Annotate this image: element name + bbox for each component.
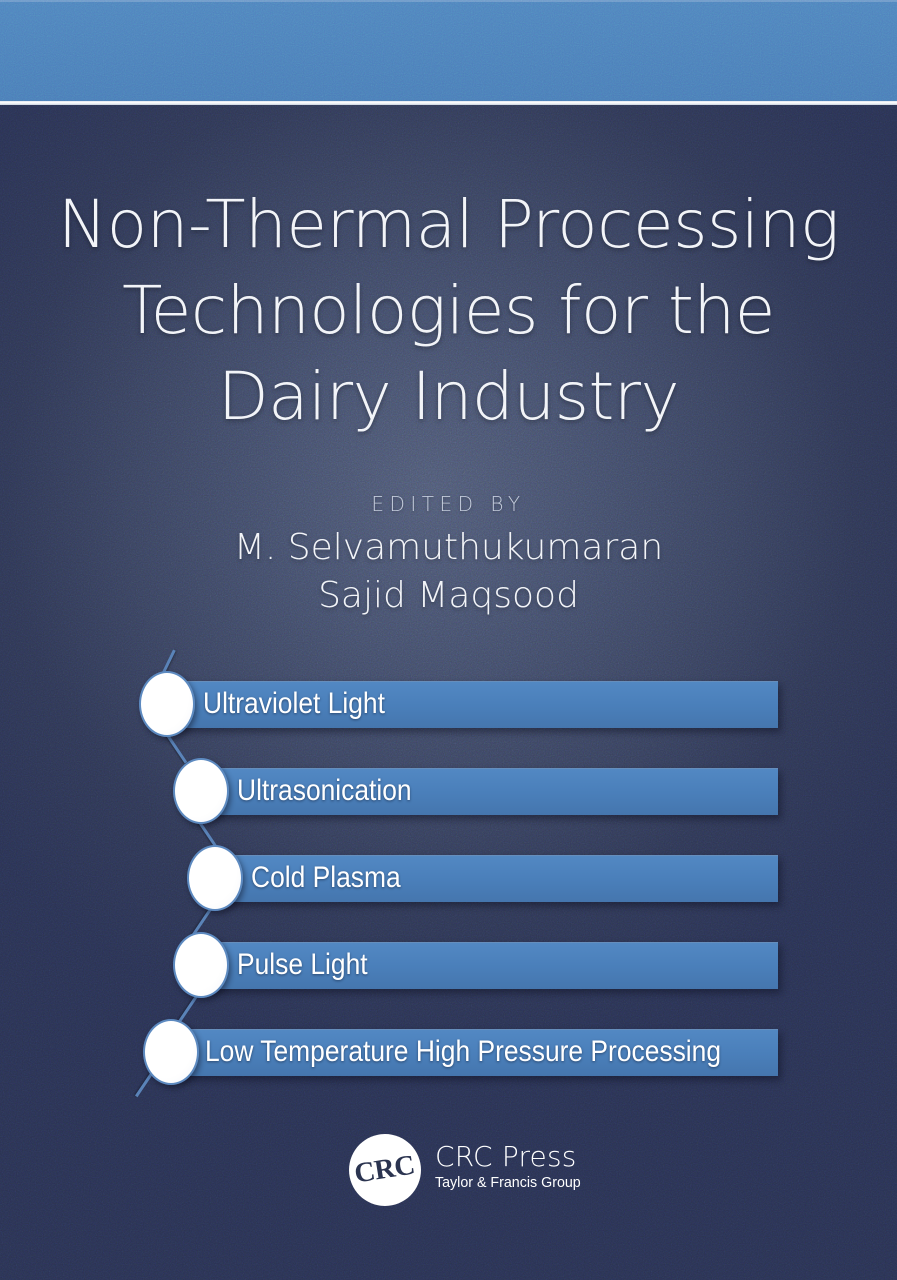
book-title: Non-Thermal Processing Technologies for … bbox=[0, 182, 897, 440]
editor-name-1: M. Selvamuthukumaran bbox=[0, 524, 897, 572]
crc-emblem-icon: CRC bbox=[349, 1134, 421, 1206]
title-line-1: Non-Thermal Processing bbox=[0, 182, 897, 268]
technology-label-4: Pulse Light bbox=[237, 942, 368, 988]
technology-bullet-5 bbox=[143, 1019, 199, 1085]
top-band-highlight bbox=[0, 0, 897, 2]
technology-bullet-4 bbox=[173, 932, 229, 998]
technology-bullet-3 bbox=[187, 845, 243, 911]
editor-names: M. Selvamuthukumaran Sajid Maqsood bbox=[0, 524, 897, 620]
technology-label-2: Ultrasonication bbox=[237, 768, 412, 814]
editor-name-2: Sajid Maqsood bbox=[0, 572, 897, 620]
title-line-2: Technologies for the bbox=[0, 268, 897, 354]
book-cover: Non-Thermal Processing Technologies for … bbox=[0, 0, 897, 1280]
top-color-band bbox=[0, 0, 897, 101]
publisher-logo: CRC CRC Press Taylor & Francis Group bbox=[0, 1128, 897, 1224]
technology-list-diagram: Ultraviolet Light Ultrasonication Cold P… bbox=[0, 660, 897, 1090]
top-band-noise-texture bbox=[0, 0, 897, 101]
crc-emblem-text: CRC bbox=[353, 1151, 417, 1188]
connector-line-1 bbox=[166, 734, 187, 764]
technology-bullet-2 bbox=[173, 758, 229, 824]
technology-label-5: Low Temperature High Pressure Processing bbox=[205, 1029, 721, 1075]
technology-label-3: Cold Plasma bbox=[251, 855, 401, 901]
edited-by-label: EDITED BY bbox=[0, 492, 897, 516]
publisher-group: Taylor & Francis Group bbox=[435, 1173, 578, 1192]
technology-label-1: Ultraviolet Light bbox=[203, 681, 385, 727]
title-line-3: Dairy Industry bbox=[0, 354, 897, 440]
publisher-name: CRC Press bbox=[435, 1140, 585, 1173]
technology-bullet-1 bbox=[139, 671, 195, 737]
